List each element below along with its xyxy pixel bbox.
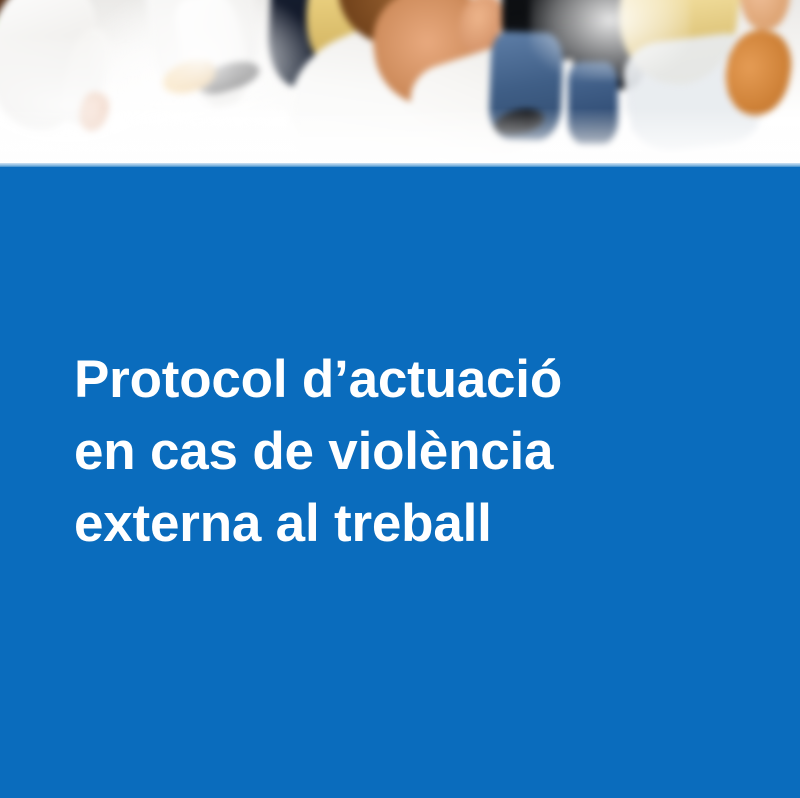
header-photo	[0, 0, 800, 166]
highlight-glare-bottom	[0, 40, 210, 150]
document-cover-page: Protocol d’actuació en cas de violència …	[0, 0, 800, 798]
blurred-figures-group	[0, 0, 800, 166]
cover-title: Protocol d’actuació en cas de violència …	[74, 344, 734, 560]
far-right-skin	[740, 0, 790, 30]
highlight-glare-right	[530, 0, 690, 80]
header-photo-band	[0, 0, 800, 166]
